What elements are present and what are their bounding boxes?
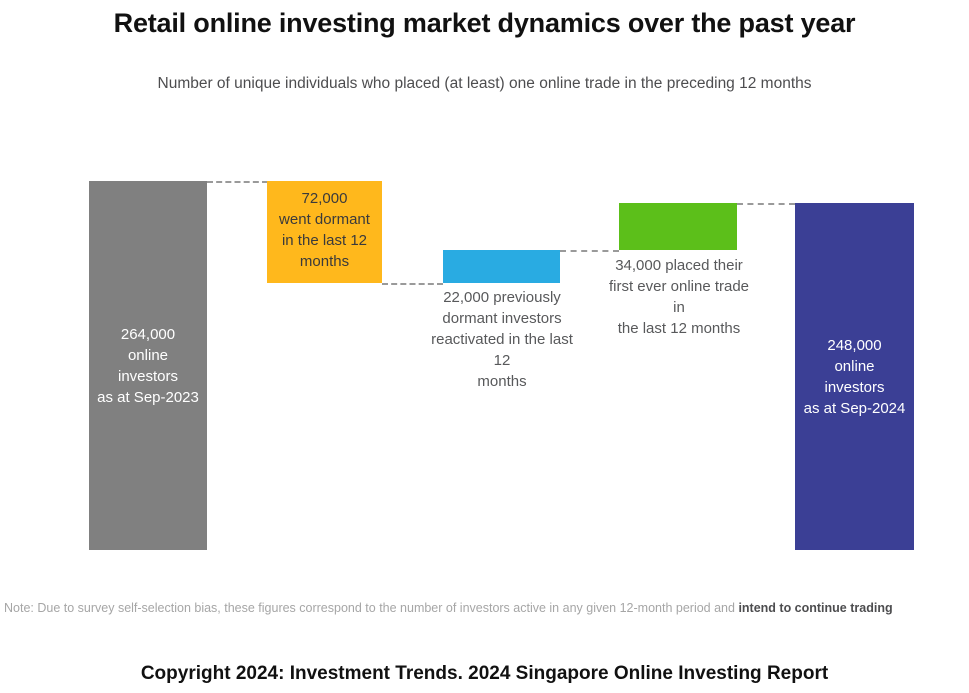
waterfall-chart: 264,000 online investors as at Sep-2023 … bbox=[0, 0, 969, 693]
footnote-text: Note: Due to survey self-selection bias,… bbox=[4, 601, 738, 615]
bar-label-end-total: 248,000 online investors as at Sep-2024 bbox=[791, 335, 918, 419]
connector-dormant-to-reactivated bbox=[382, 283, 443, 285]
bar-label-went-dormant: 72,000 went dormant in the last 12 month… bbox=[263, 188, 386, 272]
connector-start-to-dormant bbox=[207, 181, 268, 183]
bar-reactivated bbox=[443, 250, 560, 283]
bar-label-first-ever-trade: 34,000 placed their first ever online tr… bbox=[603, 255, 755, 339]
bar-first-ever-trade bbox=[619, 203, 737, 250]
bar-label-start-total: 264,000 online investors as at Sep-2023 bbox=[85, 324, 211, 408]
copyright-line: Copyright 2024: Investment Trends. 2024 … bbox=[0, 661, 969, 687]
bar-label-reactivated: 22,000 previously dormant investors reac… bbox=[423, 287, 581, 392]
connector-first-trade-to-end-total bbox=[737, 203, 795, 205]
connector-reactivated-to-first-trade bbox=[560, 250, 619, 252]
footnote-emphasis: intend to continue trading bbox=[738, 601, 892, 615]
footnote: Note: Due to survey self-selection bias,… bbox=[4, 600, 965, 617]
